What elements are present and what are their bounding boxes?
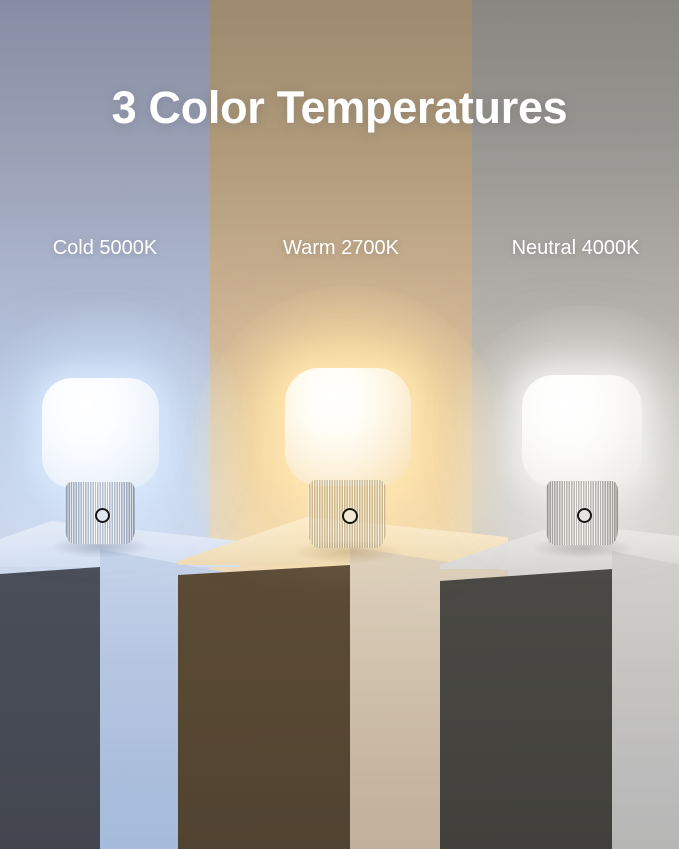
- product-feature-image: 3 Color Temperatures Cold 5000K Warm 270…: [0, 0, 679, 849]
- power-button-warm[interactable]: [342, 508, 358, 524]
- lamp-neutral: [516, 375, 648, 551]
- pedestal-neutral: [440, 541, 679, 849]
- pedestal-left-face-neutral: [440, 569, 612, 849]
- color-temperature-label-warm: Warm 2700K: [210, 237, 472, 260]
- power-button-neutral[interactable]: [577, 508, 592, 523]
- color-temperature-label-neutral: Neutral 4000K: [472, 237, 679, 260]
- pedestal-right-face-neutral: [612, 551, 679, 849]
- pedestal-left-face-cold: [0, 567, 100, 849]
- headline: 3 Color Temperatures: [0, 82, 679, 134]
- lamp-shade-neutral: [522, 375, 642, 487]
- lamp-shade-warm: [285, 368, 411, 486]
- pedestal-left-face-warm: [178, 565, 350, 849]
- power-button-cold[interactable]: [95, 508, 110, 523]
- lamp-base-warm: [308, 480, 386, 548]
- lamp-base-cold: [65, 482, 135, 544]
- lamp-cold: [36, 378, 166, 550]
- lamp-shade-cold: [42, 378, 159, 488]
- lamp-base-neutral: [546, 481, 618, 545]
- color-temperature-label-cold: Cold 5000K: [0, 237, 210, 260]
- lamp-warm: [278, 368, 418, 554]
